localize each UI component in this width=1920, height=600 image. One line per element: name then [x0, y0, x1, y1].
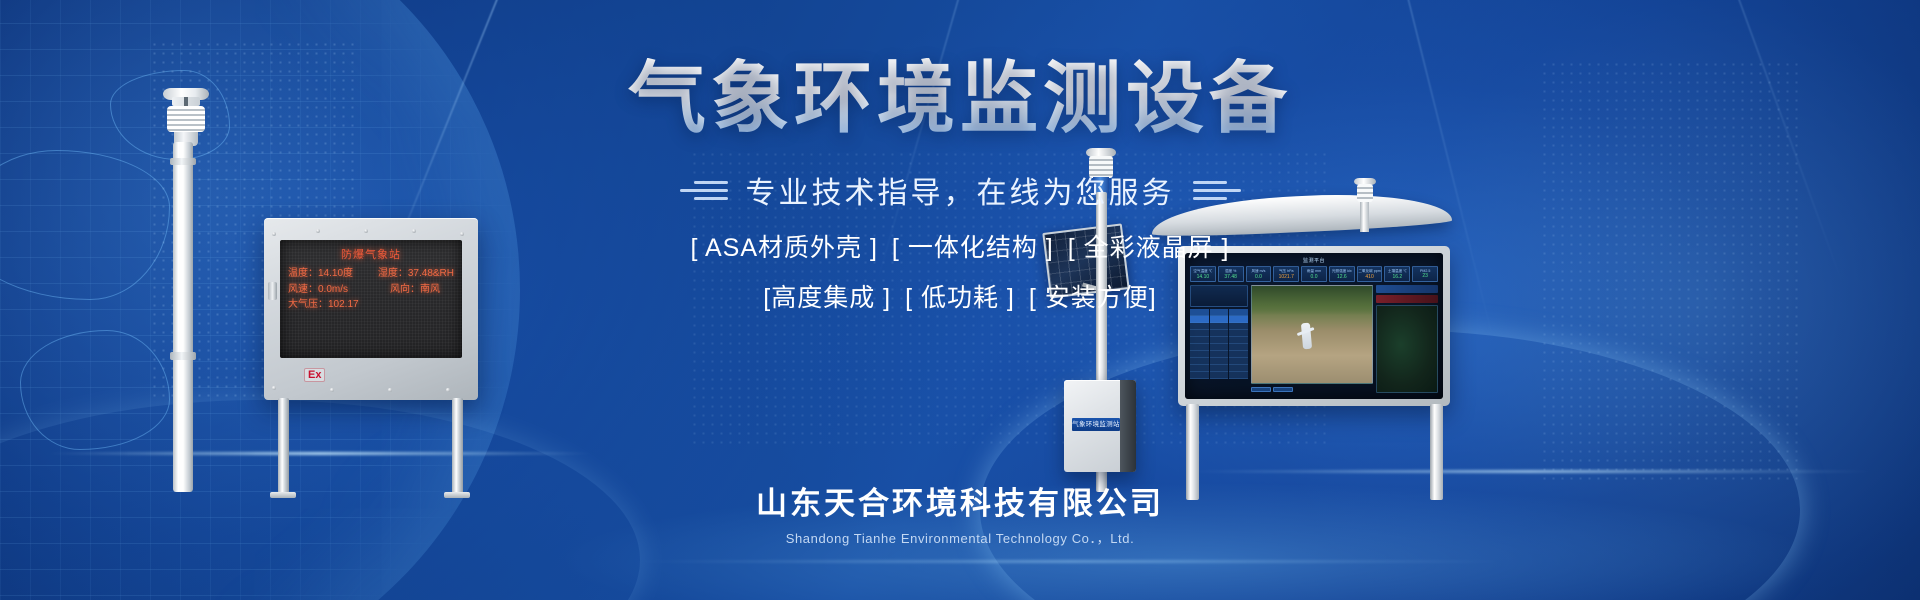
copy-block: 气象环境监测设备 专业技术指导，在线为您服务 [ ASA材质外壳 ] [ 一体化…: [0, 0, 1920, 600]
feature-tag: [ 低功耗 ]: [905, 278, 1015, 314]
feature-tag: [ 一体化结构 ]: [892, 228, 1054, 264]
page-title: 气象环境监测设备: [560, 58, 1360, 139]
banner-root: 防爆气象站 温度：14.10度 湿度：37.48&RH 风速：0.0m/s 风向…: [0, 0, 1920, 600]
feature-tag-row-2: [高度集成 ] [ 低功耗 ] [ 安装方便]: [763, 278, 1156, 314]
feature-tag: [ 安装方便]: [1029, 278, 1157, 314]
feature-tag: [高度集成 ]: [763, 278, 891, 314]
feature-tag-group: [ ASA材质外壳 ] [ 一体化结构 ] [ 全彩液晶屏 ] [高度集成 ] …: [520, 228, 1400, 314]
ornament-lines-left-icon: [680, 181, 728, 200]
subtitle-text: 专业技术指导，在线为您服务: [746, 168, 1175, 212]
company-name-cn: 山东天合环境科技有限公司: [560, 478, 1360, 523]
subtitle-row: 专业技术指导，在线为您服务: [560, 168, 1360, 212]
company-block: 山东天合环境科技有限公司 Shandong Tianhe Environment…: [560, 478, 1360, 547]
feature-tag: [ 全彩液晶屏 ]: [1068, 228, 1230, 264]
feature-tag: [ ASA材质外壳 ]: [690, 228, 877, 264]
feature-tag-row-1: [ ASA材质外壳 ] [ 一体化结构 ] [ 全彩液晶屏 ]: [690, 228, 1229, 264]
ornament-lines-right-icon: [1193, 181, 1241, 200]
company-name-en: Shandong Tianhe Environmental Technology…: [560, 528, 1360, 547]
